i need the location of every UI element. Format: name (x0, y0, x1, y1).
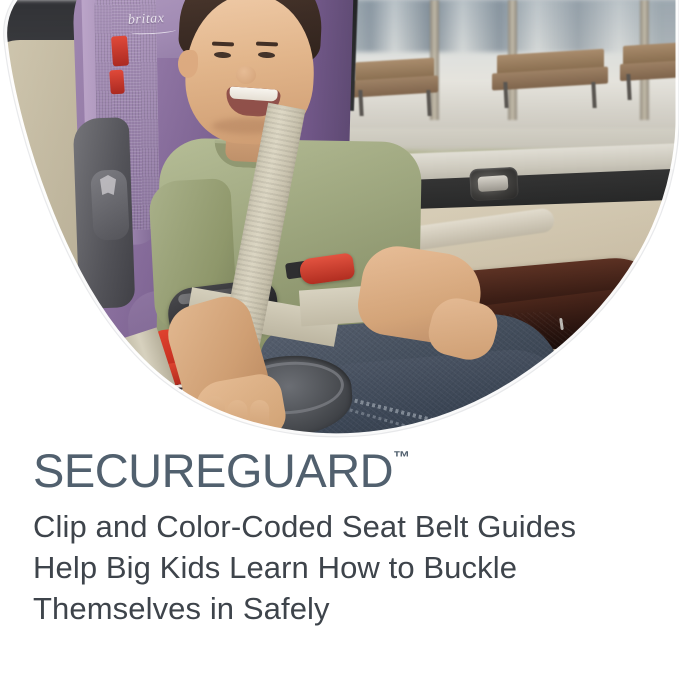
child-finger (227, 400, 249, 440)
door-handle-icon (478, 175, 509, 192)
text-content: SECUREGUARD ™ Clip and Color-Coded Seat … (0, 446, 679, 630)
child-eyebrow (256, 42, 278, 47)
product-photo: britax (0, 0, 679, 440)
britax-wordmark: britax (128, 11, 165, 29)
headline-row: SECUREGUARD ™ (0, 446, 679, 496)
subtitle-line-1: Clip and Color-Coded Seat Belt Guides (33, 507, 679, 548)
child-finger (250, 400, 270, 440)
seat-belt-buckle (125, 387, 174, 425)
subtitle-line-2: Help Big Kids Learn How to Buckle (33, 548, 679, 589)
subtitle: Clip and Color-Coded Seat Belt Guides He… (0, 496, 679, 630)
child-nose (236, 66, 256, 84)
harness-clip-icon (111, 35, 129, 66)
park-bench-icon (620, 44, 679, 102)
child-eyebrow (212, 42, 234, 47)
park-bench-icon (492, 52, 608, 110)
child-ear (178, 50, 198, 78)
park-bench-icon (352, 60, 438, 118)
harness-clip-icon (109, 70, 125, 95)
photo-blob-mask: britax (0, 0, 679, 440)
trademark-symbol: ™ (393, 449, 410, 466)
page-title: SECUREGUARD (33, 446, 393, 496)
secureguard-feature-card: britax (0, 0, 679, 679)
subtitle-line-3: Themselves in Safely (33, 589, 679, 630)
